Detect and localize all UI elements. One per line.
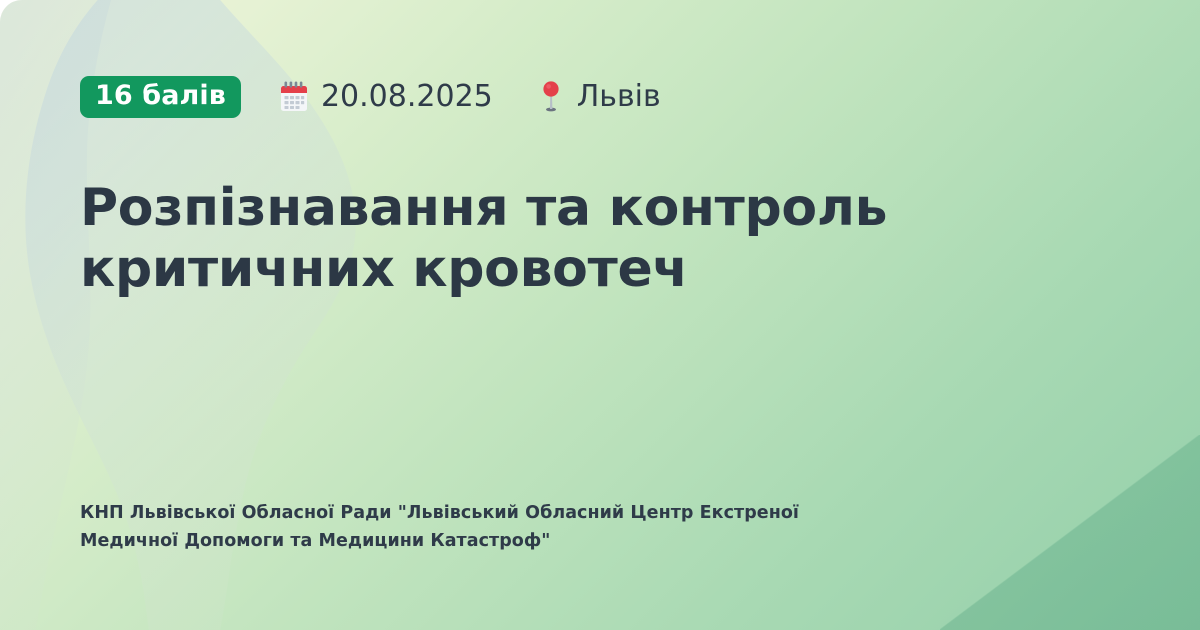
score-badge: 16 балів bbox=[80, 76, 241, 118]
event-location-text: Львів bbox=[577, 82, 661, 112]
page-title: Розпізнавання та контроль критичних кров… bbox=[80, 178, 1140, 300]
card-content: 16 балів bbox=[0, 0, 1200, 630]
organizer-line-2: Медичної Допомоги та Медицини Катастроф" bbox=[80, 528, 960, 556]
event-date: 20.08.2025 bbox=[279, 80, 493, 114]
organizer-block: КНП Львівської Обласної Ради "Львівський… bbox=[80, 500, 960, 555]
organizer-line-1: КНП Львівської Обласної Ради "Львівський… bbox=[80, 500, 960, 528]
event-announcement-card: 16 балів bbox=[0, 0, 1200, 630]
calendar-icon bbox=[279, 80, 309, 114]
location-pin-icon bbox=[541, 80, 561, 114]
event-location: Львів bbox=[541, 80, 661, 114]
meta-row: 16 балів bbox=[80, 76, 661, 118]
event-date-text: 20.08.2025 bbox=[321, 82, 493, 112]
